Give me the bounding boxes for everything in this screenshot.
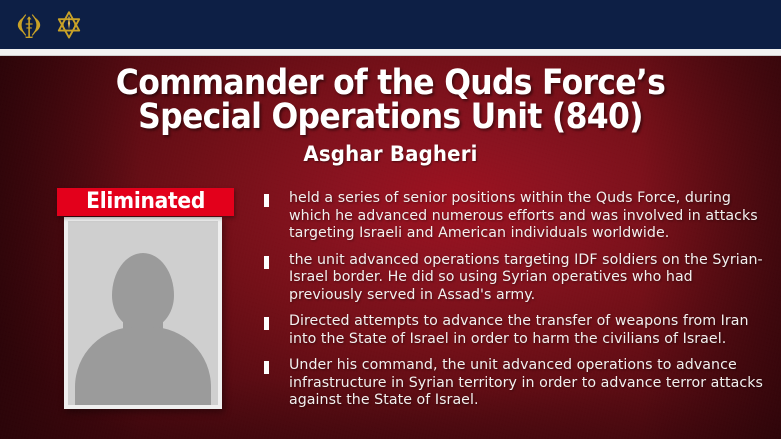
broadcast-tower-icon xyxy=(12,8,46,42)
header-emblem-group xyxy=(12,8,86,42)
idf-emblem-icon xyxy=(52,8,86,42)
bullet-text: held a series of senior positions within… xyxy=(289,190,764,243)
list-item: held a series of senior positions within… xyxy=(264,190,764,243)
bullet-marker-icon xyxy=(264,361,269,374)
bullet-marker-icon xyxy=(264,256,269,269)
title-line-2: Special Operations Unit (840) xyxy=(39,100,742,134)
header-divider xyxy=(0,49,781,56)
list-item: Under his command, the unit advanced ope… xyxy=(264,357,764,410)
silhouette-shoulders-icon xyxy=(75,327,211,405)
bullet-list: held a series of senior positions within… xyxy=(264,190,764,419)
bullet-marker-icon xyxy=(264,194,269,207)
subject-photo-frame xyxy=(64,217,222,409)
header-bar xyxy=(0,0,781,49)
list-item: Directed attempts to advance the transfe… xyxy=(264,313,764,348)
list-item: the unit advanced operations targeting I… xyxy=(264,252,764,305)
infographic-card: Commander of the Quds Force’s Special Op… xyxy=(0,0,781,439)
bullet-text: Directed attempts to advance the transfe… xyxy=(289,313,764,348)
status-badge-label: Eliminated xyxy=(86,191,205,213)
page-title: Commander of the Quds Force’s Special Op… xyxy=(0,66,781,165)
subject-photo-placeholder xyxy=(68,221,218,405)
status-badge: Eliminated xyxy=(57,188,234,216)
bullet-marker-icon xyxy=(264,317,269,330)
title-line-1: Commander of the Quds Force’s xyxy=(39,66,742,100)
bullet-text: the unit advanced operations targeting I… xyxy=(289,252,764,305)
bullet-text: Under his command, the unit advanced ope… xyxy=(289,357,764,410)
subject-name: Asghar Bagheri xyxy=(23,143,757,165)
